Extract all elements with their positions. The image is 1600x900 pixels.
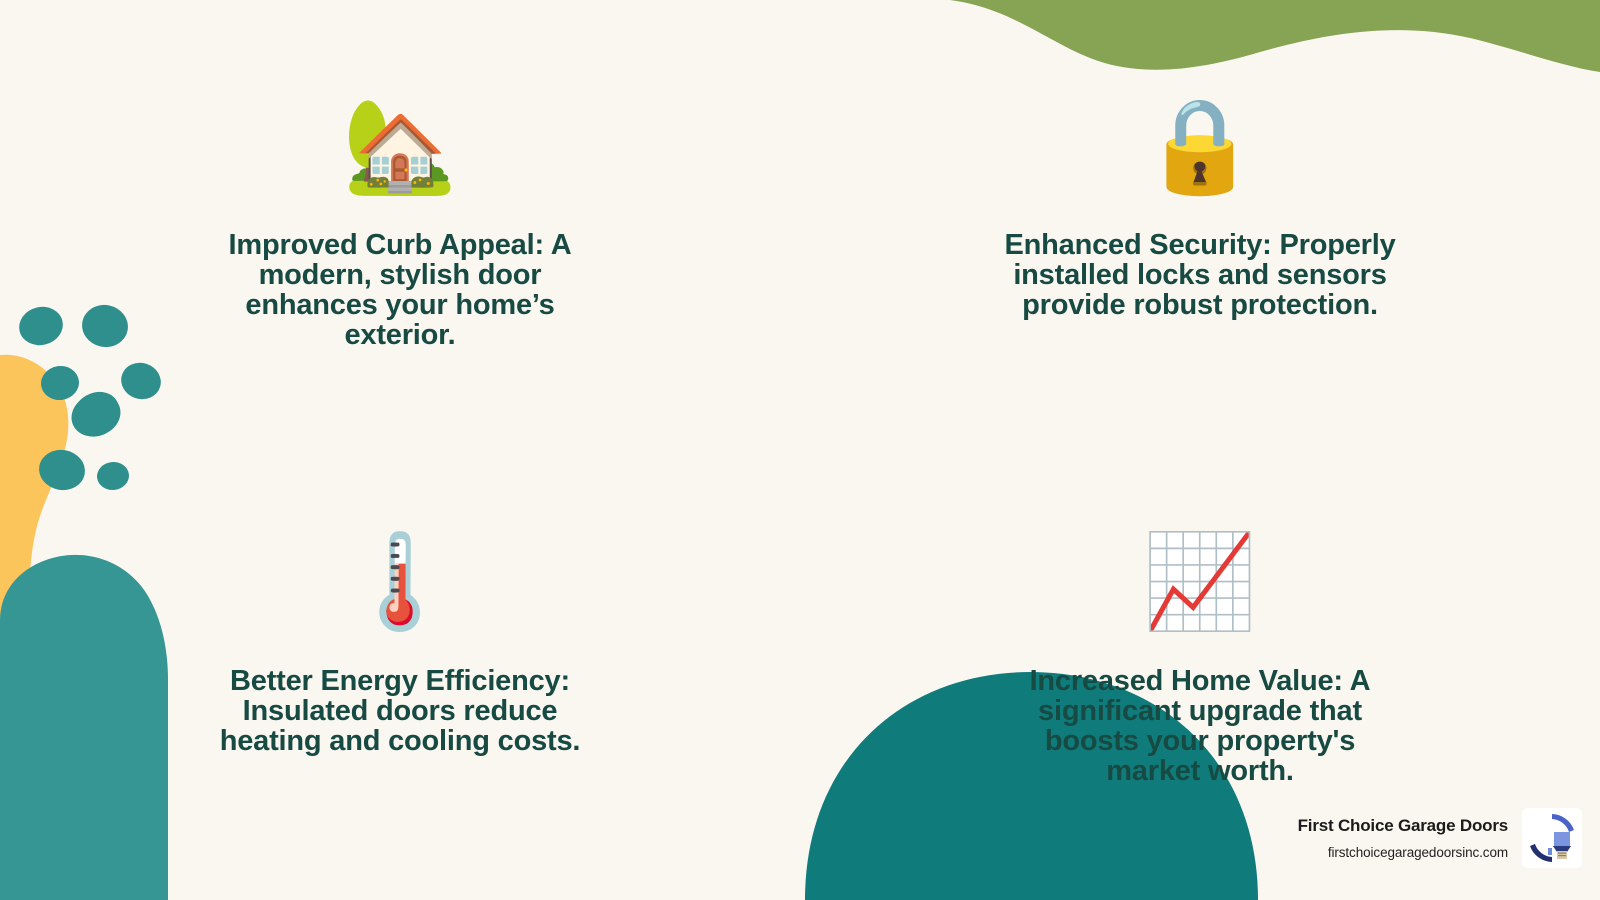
first-choice-garage-doors-badge-icon [1526,812,1578,864]
benefit-text-home-value: Increased Home Value: A significant upgr… [1000,666,1400,787]
benefit-card-energy-efficiency: 🌡️ Better Energy Efficiency: Insulated d… [0,450,800,900]
benefit-text-energy-efficiency: Better Energy Efficiency: Insulated door… [200,666,600,756]
lock-icon: 🔒 [1143,92,1258,200]
brand-logo [1522,808,1582,868]
thermometer-icon: 🌡️ [343,528,458,636]
brand-text-block: First Choice Garage Doors firstchoicegar… [1298,816,1508,860]
brand-name: First Choice Garage Doors [1298,816,1508,836]
brand-website[interactable]: firstchoicegaragedoorsinc.com [1328,845,1508,860]
benefit-text-security: Enhanced Security: Properly installed lo… [985,230,1415,320]
benefit-card-security: 🔒 Enhanced Security: Properly installed … [800,0,1600,450]
house-with-garden-icon: 🏡 [343,92,458,200]
benefit-text-curb-appeal: Improved Curb Appeal: A modern, stylish … [200,230,600,351]
chart-increasing-icon: 📈 [1143,528,1258,636]
brand-footer: First Choice Garage Doors firstchoicegar… [1298,808,1582,868]
benefits-grid: 🏡 Improved Curb Appeal: A modern, stylis… [0,0,1600,900]
infographic-canvas: 🏡 Improved Curb Appeal: A modern, stylis… [0,0,1600,900]
benefit-card-curb-appeal: 🏡 Improved Curb Appeal: A modern, stylis… [0,0,800,450]
